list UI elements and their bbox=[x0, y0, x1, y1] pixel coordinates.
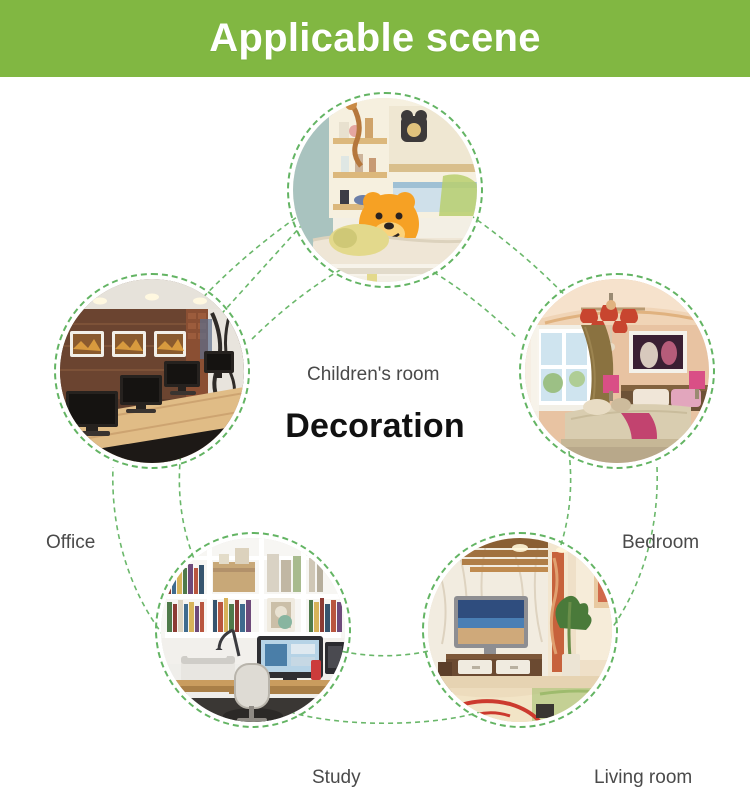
node-label-study: Study bbox=[312, 767, 361, 789]
node-label-living-room: Living room bbox=[594, 767, 692, 789]
diagram-stage: Decoration bbox=[0, 77, 750, 750]
node-bedroom[interactable] bbox=[519, 273, 715, 469]
node-living-room[interactable] bbox=[422, 532, 618, 728]
node-label-bedroom: Bedroom bbox=[622, 532, 699, 554]
header-banner: Applicable scene bbox=[0, 0, 750, 77]
page-title: Applicable scene bbox=[209, 16, 541, 61]
node-label-office: Office bbox=[46, 532, 95, 554]
dashed-ring-office bbox=[54, 273, 250, 469]
node-label-children-room: Children's room bbox=[307, 364, 439, 386]
dashed-ring-living-room bbox=[422, 532, 618, 728]
dashed-ring-children-room bbox=[287, 92, 483, 288]
node-office[interactable] bbox=[54, 273, 250, 469]
applicable-scene-infographic: Applicable scene Decora bbox=[0, 0, 750, 750]
node-study[interactable] bbox=[155, 532, 351, 728]
node-children-room[interactable] bbox=[287, 92, 483, 288]
dashed-ring-study bbox=[155, 532, 351, 728]
dashed-ring-bedroom bbox=[519, 273, 715, 469]
